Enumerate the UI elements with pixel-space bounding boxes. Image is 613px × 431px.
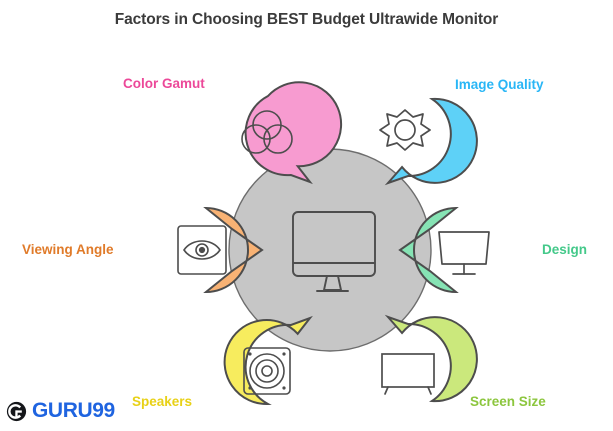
pin-image-quality [380, 99, 477, 183]
label-screen-size: Screen Size [470, 394, 546, 410]
speaker-icon [244, 348, 290, 394]
pin-speakers-shape [225, 318, 310, 404]
guru99-logo: GURU99 [6, 400, 115, 422]
pin-speakers [225, 318, 310, 404]
guru99-circle-g-icon [6, 401, 27, 422]
factors-diagram [0, 0, 613, 431]
eye-icon [178, 226, 226, 274]
widescreen-tv-icon [382, 354, 434, 394]
monitor-icon [439, 232, 489, 274]
label-color-gamut: Color Gamut [123, 76, 205, 92]
label-design: Design [542, 242, 587, 258]
brightness-sun-icon [380, 110, 430, 150]
guru99-logo-text: GURU99 [32, 400, 115, 422]
label-viewing-angle: Viewing Angle [22, 242, 114, 258]
pin-screen-size-shape [388, 317, 477, 401]
label-image-quality: Image Quality [455, 77, 544, 93]
pin-image-quality-shape [388, 99, 477, 183]
pin-screen-size [382, 317, 477, 401]
label-speakers: Speakers [132, 394, 192, 410]
infographic-root: Factors in Choosing BEST Budget Ultrawid… [0, 0, 613, 431]
